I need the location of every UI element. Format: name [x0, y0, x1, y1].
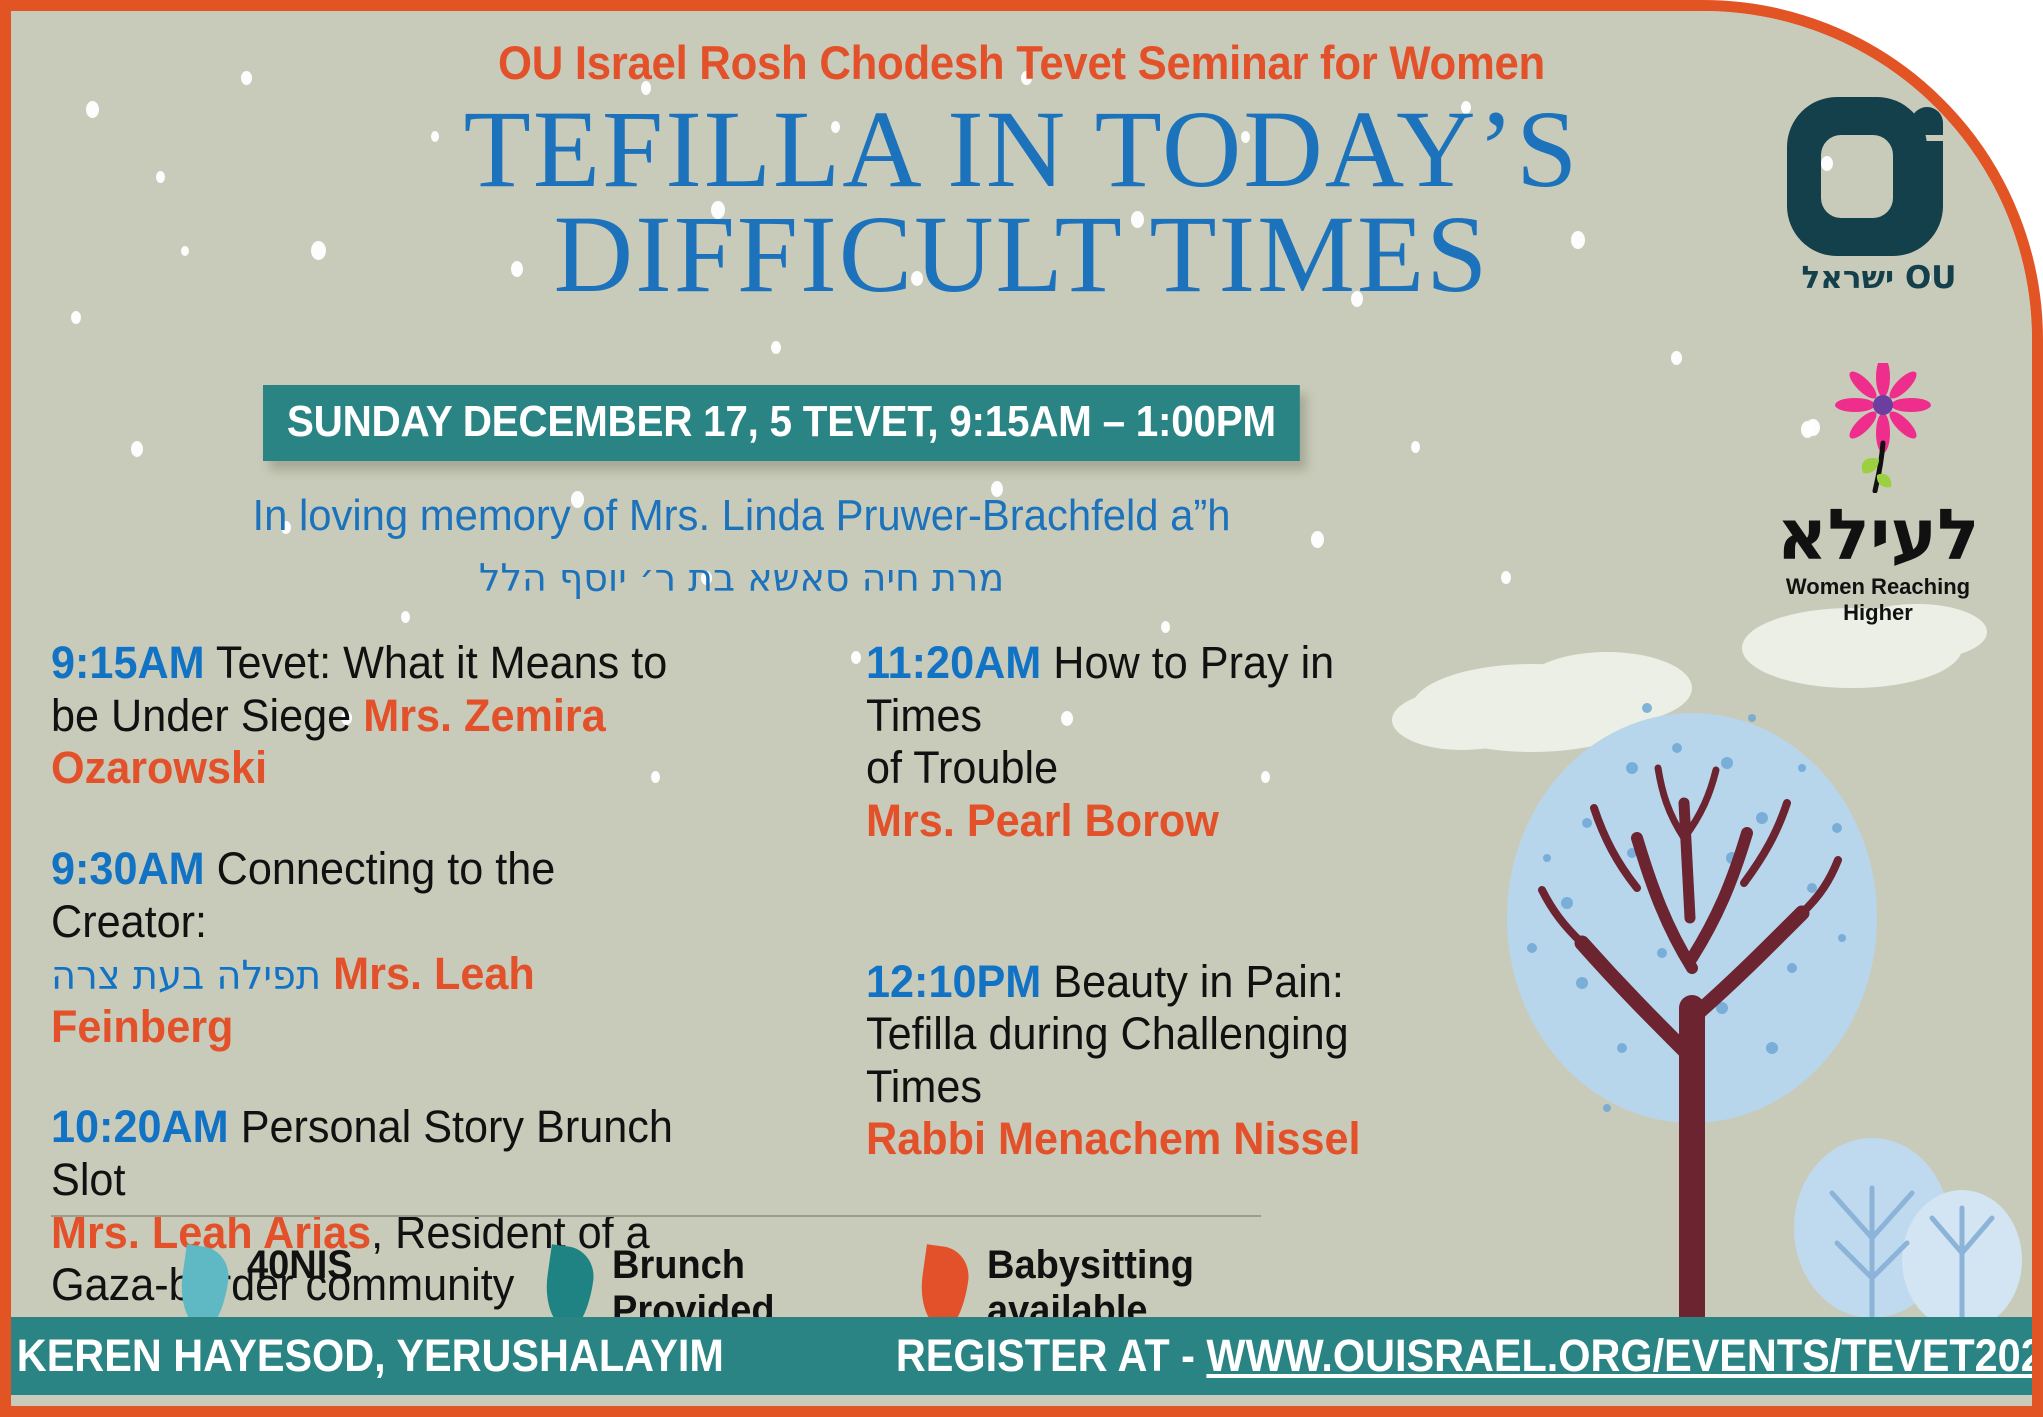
session-title-line-1: Beauty in Pain:	[1053, 956, 1344, 1007]
layla-tagline: Women Reaching Higher	[1763, 574, 1993, 626]
date-time-banner: SUNDAY DECEMBER 17, 5 TEVET, 9:15AM – 1:…	[263, 385, 1300, 461]
footer-bar: 22 KEREN HAYESOD, YERUSHALAYIM REGISTER …	[11, 1317, 2032, 1395]
session-time: 9:30AM	[51, 843, 205, 894]
session-title-hebrew: תפילה בעת צרה	[51, 953, 321, 999]
flower-icon	[1763, 363, 1993, 493]
session-title-line-2: Tefilla during Challenging Times	[866, 1008, 1461, 1113]
perk-label-line-1: 40NIS	[247, 1243, 353, 1287]
session-time: 12:10PM	[866, 956, 1041, 1007]
page-title: TEFILLA IN TODAY’S DIFFICULT TIMES	[11, 97, 2032, 306]
session-time: 11:20AM	[866, 637, 1041, 688]
page-kicker: OU Israel Rosh Chodesh Tevet Seminar for…	[82, 35, 1962, 90]
session-speaker: Rabbi Menachem Nissel	[866, 1113, 1461, 1166]
ou-logo-caption: OU ישראל	[1779, 260, 1979, 296]
dedication-hebrew: מרת חיה סאשא בת ר׳ יוסף הלל	[11, 556, 1472, 600]
flyer-root: OU Israel Rosh Chodesh Tevet Seminar for…	[0, 0, 2043, 1417]
session-item: 9:30AM Connecting to the Creator: תפילה …	[51, 843, 731, 1054]
session-item: 11:20AM How to Pray in Times of Trouble …	[866, 637, 1486, 848]
ou-mark-icon	[1779, 89, 1979, 264]
register-url[interactable]: WWW.OUISRAEL.ORG/EVENTS/TEVET2023	[1206, 1330, 2043, 1381]
perks-divider	[51, 1215, 1261, 1217]
schedule-column-left: 9:15AM Tevet: What it Means to be Under …	[51, 637, 731, 1346]
session-item: 9:15AM Tevet: What it Means to be Under …	[51, 637, 731, 795]
title-line-1: TEFILLA IN TODAY’S	[464, 88, 1580, 210]
flyer-frame: OU Israel Rosh Chodesh Tevet Seminar for…	[0, 0, 2043, 1417]
venue-address: 22 KEREN HAYESOD, YERUSHALAYIM	[0, 1330, 723, 1382]
session-title-line-2: of Trouble	[866, 742, 1461, 795]
layla-logo: לעילא Women Reaching Higher	[1763, 363, 1993, 626]
perk-label-line-1: Brunch	[612, 1243, 745, 1287]
register-label: REGISTER AT -	[896, 1330, 1195, 1381]
session-time: 10:20AM	[51, 1101, 229, 1152]
session-item: 12:10PM Beauty in Pain: Tefilla during C…	[866, 956, 1486, 1167]
schedule-column-right: 11:20AM How to Pray in Times of Trouble …	[866, 637, 1486, 1200]
session-speaker: Mrs. Pearl Borow	[866, 795, 1461, 848]
title-line-2: DIFFICULT TIMES	[11, 202, 2032, 307]
dedication-english: In loving memory of Mrs. Linda Pruwer-Br…	[48, 491, 1436, 541]
layla-hebrew-wordmark: לעילא	[1763, 500, 1993, 570]
session-time: 9:15AM	[51, 637, 205, 688]
ou-israel-logo: OU ישראל	[1779, 89, 1979, 296]
